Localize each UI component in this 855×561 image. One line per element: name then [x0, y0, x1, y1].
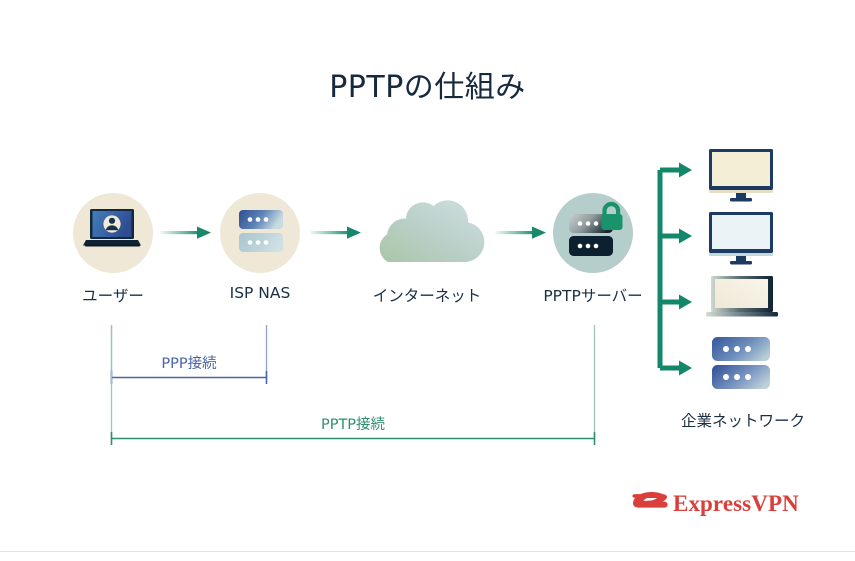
laptop-icon — [706, 274, 780, 320]
laptop-user-icon — [84, 206, 142, 256]
node-user-label: ユーザー — [43, 284, 183, 306]
diagram-canvas: PPTPの仕組み — [0, 0, 855, 561]
monitor-icon — [708, 211, 778, 263]
arrow-right-icon — [160, 227, 211, 239]
server-stack-icon — [236, 208, 286, 258]
lock-icon — [602, 204, 623, 230]
node-internet-label: インターネット — [347, 284, 507, 306]
node-pptp-server-label: PPTPサーバー — [518, 284, 668, 306]
page-title: PPTPの仕組み — [0, 62, 855, 106]
footer-divider — [0, 551, 855, 552]
corporate-network-label: 企業ネットワーク — [648, 409, 838, 431]
expressvpn-logo[interactable]: ExpressVPN — [631, 487, 796, 523]
branching-arrow-icon — [648, 150, 708, 390]
arrow-right-icon — [310, 227, 361, 239]
pptp-span-label: PPTP接続 — [111, 413, 595, 434]
server-lock-icon — [566, 202, 628, 264]
ppp-span-label: PPP接続 — [111, 352, 267, 373]
monitor-icon — [708, 148, 778, 200]
server-stack-icon — [710, 336, 774, 392]
node-isp-nas-label: ISP NAS — [190, 284, 330, 302]
arrow-right-icon — [495, 227, 546, 239]
cloud-icon — [366, 190, 488, 270]
expressvpn-logo-icon — [631, 491, 669, 521]
expressvpn-wordmark: ExpressVPN — [673, 491, 799, 517]
